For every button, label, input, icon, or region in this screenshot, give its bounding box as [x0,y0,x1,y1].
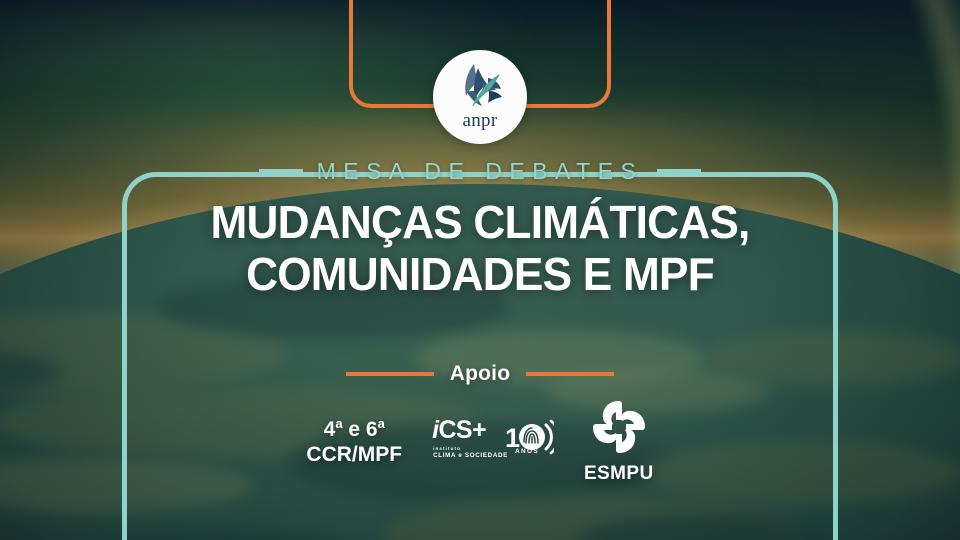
ics-sub-instituto: instituto [433,446,461,451]
event-poster: anpr MESA DE DEBATES MUDANÇAS CLIMÁTICAS… [0,0,960,540]
esmpu-pinwheel-icon [590,398,648,456]
poster-title: MUDANÇAS CLIMÁTICAS, COMUNIDADES E MPF [154,196,807,301]
title-line-1: MUDANÇAS CLIMÁTICAS, [154,196,807,248]
ccr-line-2: CCR/MPF [306,443,402,468]
kicker-rule-left [259,169,303,174]
ordinal-marker-1: a [335,416,342,431]
ics-wordmark: iCS+ [432,418,486,443]
ics-cs: CS [438,416,472,444]
support-label: Apoio [450,362,510,386]
support-rule-left [346,372,434,376]
ics-sub-clima-sociedade: CLIMA e SOCIEDADE [433,452,508,459]
support-row: Apoio [0,362,960,386]
kicker-label: MESA DE DEBATES [317,158,644,185]
title-line-2: COMUNIDADES E MPF [154,248,807,300]
kicker-row: MESA DE DEBATES [0,158,960,185]
kicker-rule-right [657,169,701,174]
ics-plus: + [472,416,486,444]
sponsor-ics: iCS+ instituto CLIMA e SOCIEDADE 1 [432,418,554,465]
esmpu-wordmark: ESMPU [584,463,654,485]
ics-wordmark-block: iCS+ instituto CLIMA e SOCIEDADE [432,418,508,459]
ics-anniversary-block: 1 ANOS [506,418,554,465]
sponsor-esmpu: ESMPU [584,398,654,485]
ordinal-marker-2: a [378,416,385,431]
anpr-logo-badge: anpr [433,50,527,144]
anpr-wordmark: anpr [463,111,498,130]
anpr-butterfly-icon [454,62,506,108]
support-rule-right [526,372,614,376]
ics-anos-label: ANOS [515,448,539,455]
sponsor-row: 4a e 6a CCR/MPF iCS+ instituto CLIMA e S… [0,398,960,485]
sponsor-ccr-mpf: 4a e 6a CCR/MPF [306,416,402,468]
ccr-line-1: 4a e 6a [306,416,402,443]
